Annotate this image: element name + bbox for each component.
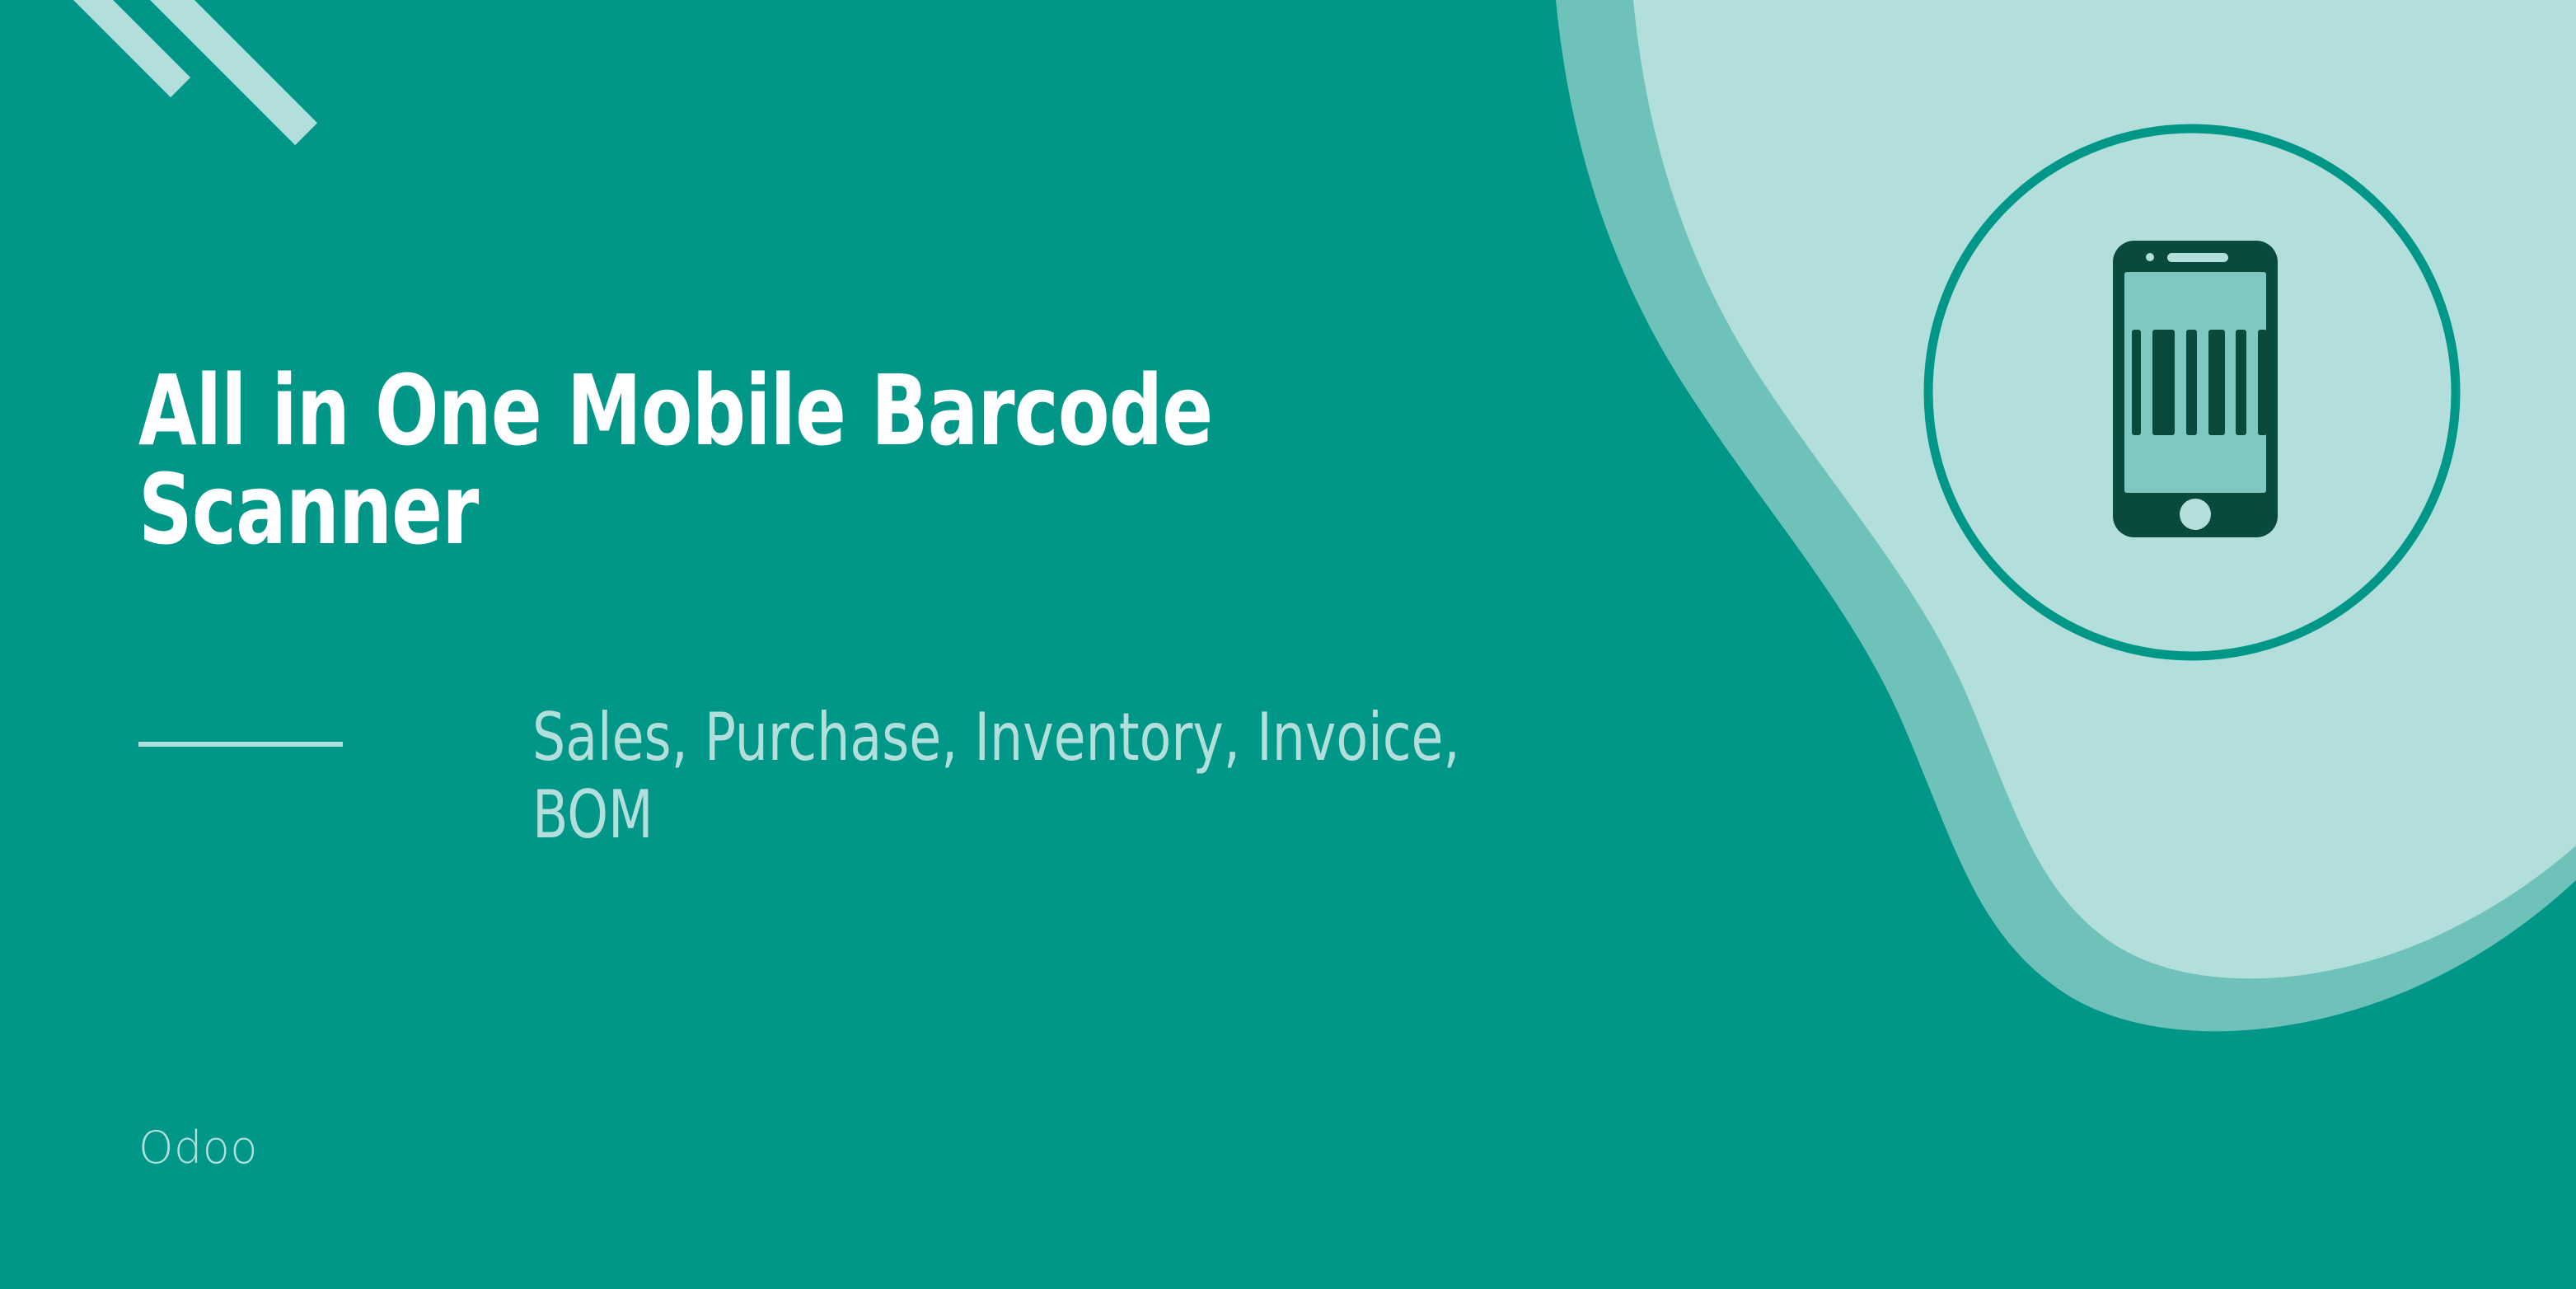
phone-home-button — [2180, 499, 2211, 530]
phone-camera-dot — [2146, 253, 2154, 261]
barcode-bar — [2208, 330, 2225, 435]
mobile-barcode-scanner-icon — [2113, 241, 2278, 537]
slide-canvas: All in One Mobile Barcode Scanner Sales,… — [0, 0, 2576, 1289]
brand-label: Odoo — [138, 1126, 258, 1170]
barcode-bar — [2186, 330, 2197, 435]
subtitle: Sales, Purchase, Inventory, Invoice, BOM — [532, 699, 1562, 855]
text-column: All in One Mobile Barcode Scanner Sales,… — [138, 0, 1737, 1289]
barcode-bar — [2236, 330, 2246, 435]
barcode-bar — [2258, 330, 2267, 435]
title-divider — [138, 742, 343, 747]
barcode-bar — [2152, 330, 2175, 435]
barcode-bar — [2132, 330, 2141, 435]
phone-speaker-slot — [2167, 253, 2228, 262]
page-title: All in One Mobile Barcode Scanner — [138, 361, 1485, 560]
